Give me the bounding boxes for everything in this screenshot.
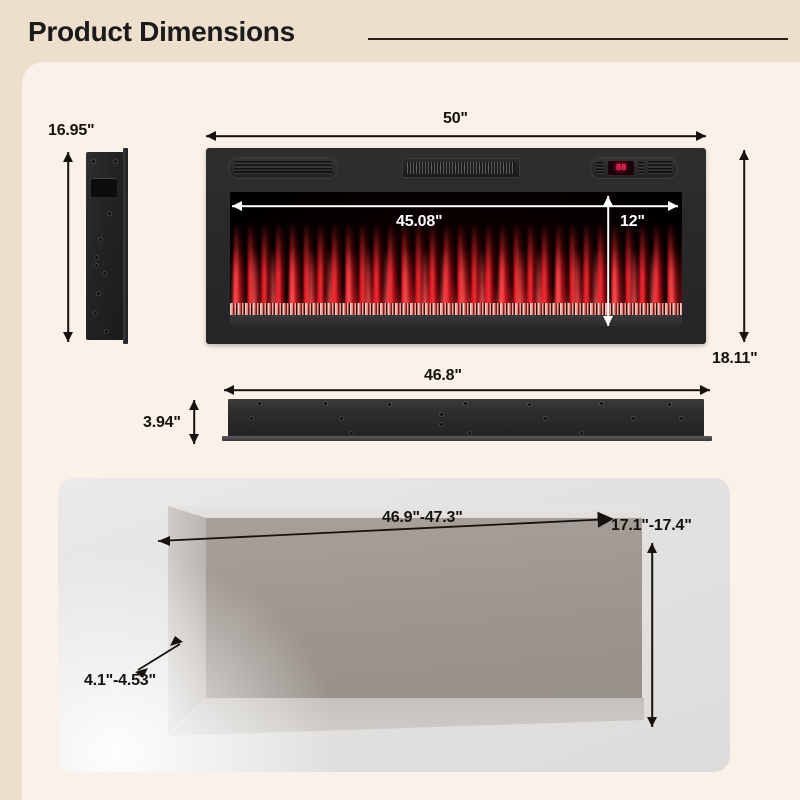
- side-vent-opening: [91, 178, 117, 197]
- center-heater-grille-icon: [402, 158, 520, 178]
- side-profile-view: [86, 148, 134, 344]
- title-divider: [368, 38, 788, 40]
- led-display-value: 88: [616, 163, 627, 173]
- front-view: 88: [206, 148, 706, 344]
- dim-front-width-label: 50": [443, 110, 468, 128]
- dim-front-width-arrow: [206, 130, 706, 142]
- dim-firebox-height-arrow: [602, 196, 614, 326]
- side-mounting-flange: [123, 148, 128, 344]
- dim-recess-depth-arrow: [126, 632, 196, 684]
- dim-recess-height-label: 17.1"-17.4": [611, 517, 692, 535]
- led-display: 88: [608, 161, 634, 175]
- bracket-body: [228, 399, 704, 437]
- dim-bracket-height-label: 3.94": [143, 414, 181, 432]
- dim-side-height-label: 16.95": [48, 122, 94, 140]
- front-top-bar: 88: [206, 148, 706, 190]
- dim-recess-width-arrow: [140, 505, 660, 565]
- back-bracket-view: [228, 399, 704, 443]
- dim-side-height-arrow: [62, 152, 74, 342]
- dim-recess-height-arrow: [646, 543, 658, 727]
- left-vent-icon: [228, 157, 338, 179]
- page-title: Product Dimensions: [28, 16, 295, 48]
- dim-front-height-arrow: [738, 150, 750, 342]
- dim-bracket-width-arrow: [224, 384, 710, 396]
- bracket-bottom-lip: [222, 436, 712, 441]
- dim-bracket-width-label: 46.8": [424, 367, 462, 385]
- wall-highlight: [58, 542, 348, 772]
- flame-effect-secondary: [230, 248, 682, 308]
- control-panel[interactable]: 88: [590, 157, 678, 179]
- product-dimensions-page: Product Dimensions 16.95" 50" 18.11": [0, 0, 800, 800]
- dim-firebox-height-label: 12": [620, 213, 645, 231]
- side-body: [86, 152, 124, 340]
- firebox-display: [230, 192, 682, 326]
- dim-front-height-label: 18.11": [712, 350, 758, 368]
- page-header: Product Dimensions: [0, 0, 800, 62]
- dim-firebox-width-label: 45.08": [396, 213, 442, 231]
- dim-bracket-height-arrow: [188, 400, 200, 444]
